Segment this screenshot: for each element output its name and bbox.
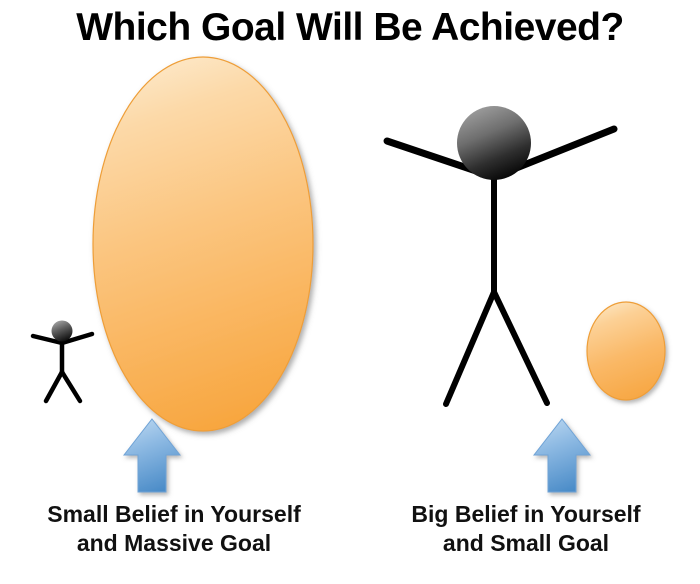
small-stick-figure	[33, 321, 92, 402]
caption-right: Big Belief in Yourself and Small Goal	[352, 500, 700, 559]
illustration-canvas	[0, 0, 700, 584]
big-figure-leg-right	[494, 292, 547, 403]
right-up-arrow	[534, 419, 590, 492]
small-figure-leg-left	[46, 372, 62, 401]
caption-left-line2: and Massive Goal	[0, 529, 348, 558]
caption-left-line1: Small Belief in Yourself	[0, 500, 348, 529]
caption-left: Small Belief in Yourself and Massive Goa…	[0, 500, 348, 559]
small-goal-ellipse	[587, 302, 665, 400]
small-figure-leg-right	[62, 372, 80, 401]
left-up-arrow	[124, 419, 180, 492]
slide-canvas: Which Goal Will Be Achieved?	[0, 0, 700, 584]
caption-right-line2: and Small Goal	[352, 529, 700, 558]
big-figure-head	[457, 106, 531, 180]
small-figure-head	[52, 321, 73, 342]
caption-right-line1: Big Belief in Yourself	[352, 500, 700, 529]
big-figure-leg-left	[446, 292, 494, 404]
big-stick-figure	[387, 106, 614, 404]
massive-goal-ellipse	[93, 57, 313, 431]
